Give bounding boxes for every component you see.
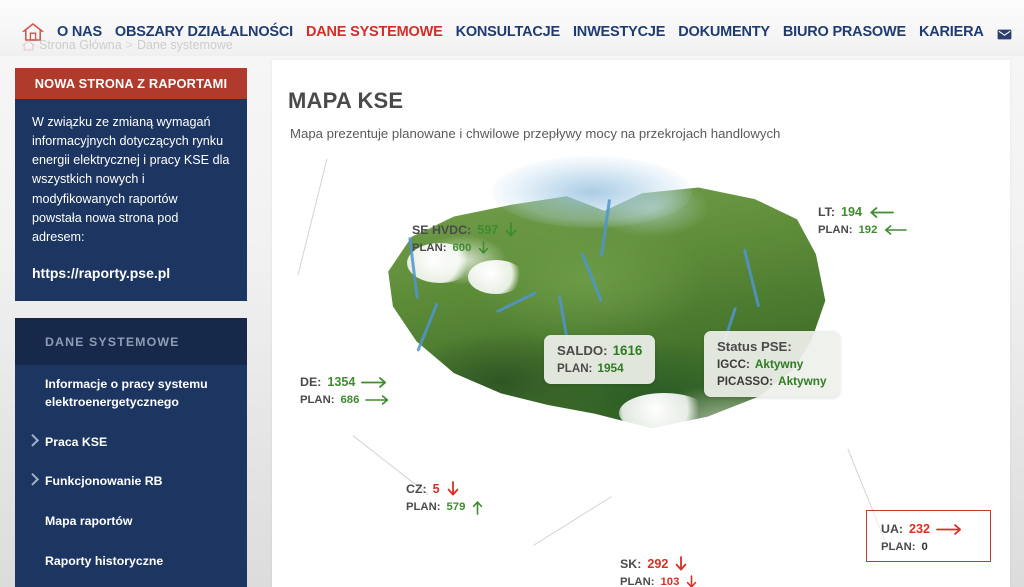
flow-name: SK: xyxy=(620,555,641,574)
sidebar-item-label: Informacje o pracy systemu elektroenerge… xyxy=(45,377,208,409)
arrow-down-icon xyxy=(446,481,460,498)
neighbor-border-line xyxy=(533,496,612,546)
sidebar-menu: DANE SYSTEMOWE Informacje o pracy system… xyxy=(15,318,247,587)
flow-plan-label: PLAN: xyxy=(406,499,441,516)
saldo-plan-label: PLAN: xyxy=(557,362,592,375)
poland-terrain-illustration xyxy=(360,173,830,463)
arrow-right-icon xyxy=(361,376,389,389)
saldo-plan-row: PLAN: 1954 xyxy=(557,361,642,375)
flow-value: 597 xyxy=(477,221,498,240)
flow-plan-value: 103 xyxy=(661,574,680,587)
arrow-right-icon xyxy=(365,394,391,406)
flow-plan-label: PLAN: xyxy=(620,574,655,587)
nav-item-biuro-prasowe[interactable]: BIURO PRASOWE xyxy=(783,24,906,40)
saldo-value: 1616 xyxy=(613,343,643,358)
flow-main-row: DE: 1354 xyxy=(300,373,391,392)
cloud-icon xyxy=(619,393,709,433)
flow-plan-row: PLAN: 686 xyxy=(300,392,391,409)
flow-main-row: UA: 232 xyxy=(881,520,964,539)
flow-plan-label: PLAN: xyxy=(300,392,335,409)
flow-value: 232 xyxy=(909,520,930,539)
sidebar-item-funkcjonowanie-rb[interactable]: Funkcjonowanie RB xyxy=(15,462,247,502)
ua-flow-box: UA: 232 PLAN: 0 xyxy=(866,510,991,562)
arrow-down-icon xyxy=(504,222,518,239)
flow-plan-value: 686 xyxy=(341,392,360,409)
nav-item-konsultacje[interactable]: KONSULTACJE xyxy=(456,24,560,40)
flow-name: UA: xyxy=(881,520,903,539)
flow-name: DE: xyxy=(300,373,321,392)
flow-name: SE HVDC: xyxy=(412,221,471,240)
flow-plan-value: 0 xyxy=(922,539,928,556)
arrow-down-icon xyxy=(685,575,698,587)
kse-map: SE HVDC: 597 PLAN: 600 LT: xyxy=(272,145,1010,587)
flow-label-sk: SK: 292 PLAN: 103 xyxy=(620,555,698,587)
page-title: MAPA KSE xyxy=(288,88,403,114)
status-pse-callout: Status PSE: IGCC: Aktywny PICASSO: Aktyw… xyxy=(704,331,840,397)
flow-label-de: DE: 1354 PLAN: 686 xyxy=(300,373,391,409)
nav-item-kariera[interactable]: KARIERA xyxy=(919,24,984,40)
arrow-down-icon xyxy=(477,241,490,256)
saldo-main-row: SALDO: 1616 xyxy=(557,343,642,358)
neighbor-border-line xyxy=(297,159,327,276)
status-value: Aktywny xyxy=(755,357,804,371)
status-label: IGCC: xyxy=(717,358,750,371)
sidebar-menu-title: DANE SYSTEMOWE xyxy=(15,318,247,365)
flow-name: LT: xyxy=(818,203,835,222)
flow-plan-label: PLAN: xyxy=(818,222,853,239)
flow-plan-value: 192 xyxy=(859,222,878,239)
saldo-plan-value: 1954 xyxy=(597,361,623,375)
flow-label-lt: LT: 194 PLAN: 192 xyxy=(818,203,907,239)
arrow-right-icon xyxy=(936,523,964,536)
promo-link[interactable]: https://raporty.pse.pl xyxy=(32,265,230,281)
sidebar-item-label: Mapa raportów xyxy=(45,514,132,528)
saldo-callout: SALDO: 1616 PLAN: 1954 xyxy=(544,335,655,384)
flow-label-cz: CZ: 5 PLAN: 579 xyxy=(406,480,484,516)
nav-item-dane-systemowe[interactable]: DANE SYSTEMOWE xyxy=(306,24,443,40)
flow-plan-value: 579 xyxy=(447,499,466,516)
flow-main-row: SE HVDC: 597 xyxy=(412,221,518,240)
flow-plan-row: PLAN: 103 xyxy=(620,574,698,587)
flow-value: 292 xyxy=(647,555,668,574)
flow-label-se-hvdc: SE HVDC: 597 PLAN: 600 xyxy=(412,221,518,257)
flow-main-row: SK: 292 xyxy=(620,555,698,574)
sidebar-item-label: Praca KSE xyxy=(45,435,107,449)
nav-item-dokumenty[interactable]: DOKUMENTY xyxy=(678,24,770,40)
status-row-picasso: PICASSO: Aktywny xyxy=(717,374,827,388)
sidebar-item-praca-kse[interactable]: Praca KSE xyxy=(15,423,247,463)
flow-main-row: LT: 194 xyxy=(818,203,907,222)
promo-text: W związku ze zmianą wymagań informacyjny… xyxy=(32,113,230,247)
page-subtitle: Mapa prezentuje planowane i chwilowe prz… xyxy=(290,126,780,141)
flow-value: 5 xyxy=(433,480,440,499)
sidebar-item-informacje-o-pracy-systemu[interactable]: Informacje o pracy systemu elektroenerge… xyxy=(15,365,247,423)
saldo-label: SALDO: xyxy=(557,343,608,358)
sidebar-item-mapa-raportow[interactable]: Mapa raportów xyxy=(15,502,247,542)
promo-title: NOWA STRONA Z RAPORTAMI xyxy=(15,68,247,99)
flow-label-ua: UA: 232 PLAN: 0 xyxy=(881,520,964,556)
flow-plan-row: PLAN: 0 xyxy=(881,539,964,556)
promo-body: W związku ze zmianą wymagań informacyjny… xyxy=(15,99,247,301)
flow-value: 1354 xyxy=(327,373,355,392)
sidebar-item-raporty-historyczne[interactable]: Raporty historyczne xyxy=(15,542,247,582)
site-header: O NAS OBSZARY DZIAŁALNOŚCI DANE SYSTEMOW… xyxy=(0,0,1024,56)
breadcrumb-separator: > xyxy=(126,38,133,52)
breadcrumb-home[interactable]: Strona Główna xyxy=(39,38,122,52)
arrow-left-icon xyxy=(883,224,907,236)
flow-plan-value: 600 xyxy=(453,240,472,257)
promo-banner: NOWA STRONA Z RAPORTAMI W związku ze zmi… xyxy=(15,68,247,301)
main-content-panel: MAPA KSE Mapa prezentuje planowane i chw… xyxy=(272,60,1010,587)
flow-plan-row: PLAN: 192 xyxy=(818,222,907,239)
nav-item-inwestycje[interactable]: INWESTYCJE xyxy=(573,24,665,40)
flow-plan-row: PLAN: 600 xyxy=(412,240,518,257)
status-label: PICASSO: xyxy=(717,375,773,388)
status-row-igcc: IGCC: Aktywny xyxy=(717,357,827,371)
arrow-up-icon xyxy=(471,500,484,515)
home-icon[interactable] xyxy=(22,40,35,51)
chevron-right-icon xyxy=(26,473,39,486)
chevron-right-icon xyxy=(26,434,39,447)
breadcrumb: Strona Główna > Dane systemowe xyxy=(22,38,233,52)
flow-value: 194 xyxy=(841,203,862,222)
flow-plan-label: PLAN: xyxy=(881,539,916,556)
sidebar: NOWA STRONA Z RAPORTAMI W związku ze zmi… xyxy=(15,68,247,587)
page-root: O NAS OBSZARY DZIAŁALNOŚCI DANE SYSTEMOW… xyxy=(0,0,1024,587)
flow-main-row: CZ: 5 xyxy=(406,480,484,499)
status-pse-title: Status PSE: xyxy=(717,339,827,354)
flow-plan-row: PLAN: 579 xyxy=(406,499,484,516)
sidebar-item-label: Funkcjonowanie RB xyxy=(45,474,163,488)
breadcrumb-current: Dane systemowe xyxy=(137,38,233,52)
flow-name: CZ: xyxy=(406,480,427,499)
arrow-left-icon xyxy=(868,206,894,219)
envelope-icon[interactable] xyxy=(997,27,1012,38)
arrow-down-icon xyxy=(674,556,688,573)
cloud-icon xyxy=(468,260,524,294)
status-value: Aktywny xyxy=(778,374,827,388)
sidebar-item-label: Raporty historyczne xyxy=(45,554,163,568)
sea-haze xyxy=(492,156,692,228)
flow-plan-label: PLAN: xyxy=(412,240,447,257)
